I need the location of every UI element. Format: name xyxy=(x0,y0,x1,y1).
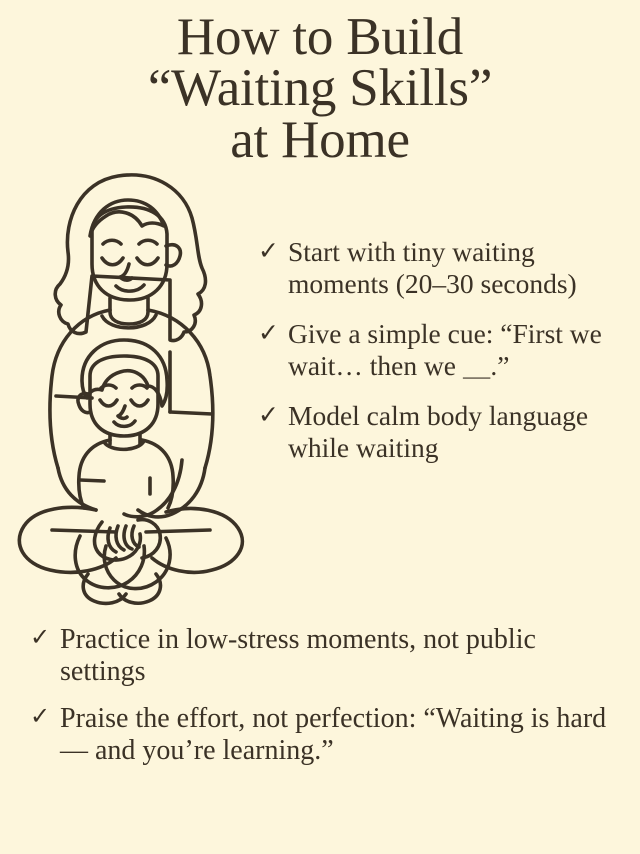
list-item: ✓ Model calm body language while waiting xyxy=(258,400,626,464)
parent-and-child-sitting-illustration xyxy=(6,160,258,610)
page-title: How to Build “Waiting Skills” at Home xyxy=(0,0,640,166)
title-line-1: How to Build xyxy=(0,12,640,63)
check-icon: ✓ xyxy=(258,400,288,429)
bullet-text: Praise the effort, not perfection: “Wait… xyxy=(60,703,622,767)
list-item: ✓ Practice in low-stress moments, not pu… xyxy=(30,624,622,688)
bullet-text: Start with tiny waiting moments (20–30 s… xyxy=(288,236,626,300)
bottom-bullets-section: ✓ Practice in low-stress moments, not pu… xyxy=(0,624,640,767)
bullet-text: Practice in low-stress moments, not publ… xyxy=(60,624,622,688)
check-icon: ✓ xyxy=(258,236,288,265)
content-middle-section: ✓ Start with tiny waiting moments (20–30… xyxy=(0,168,640,608)
list-item: ✓ Praise the effort, not perfection: “Wa… xyxy=(30,703,622,767)
illustration-column xyxy=(0,168,258,608)
title-line-2: “Waiting Skills” xyxy=(0,63,640,114)
title-line-3: at Home xyxy=(0,115,640,166)
check-icon: ✓ xyxy=(258,318,288,347)
check-icon: ✓ xyxy=(30,703,60,731)
bullet-text: Give a simple cue: “First we wait… then … xyxy=(288,318,626,382)
check-icon: ✓ xyxy=(30,624,60,652)
bullet-text: Model calm body language while waiting xyxy=(288,400,626,464)
list-item: ✓ Start with tiny waiting moments (20–30… xyxy=(258,236,626,300)
bullets-column: ✓ Start with tiny waiting moments (20–30… xyxy=(258,168,640,463)
list-item: ✓ Give a simple cue: “First we wait… the… xyxy=(258,318,626,382)
